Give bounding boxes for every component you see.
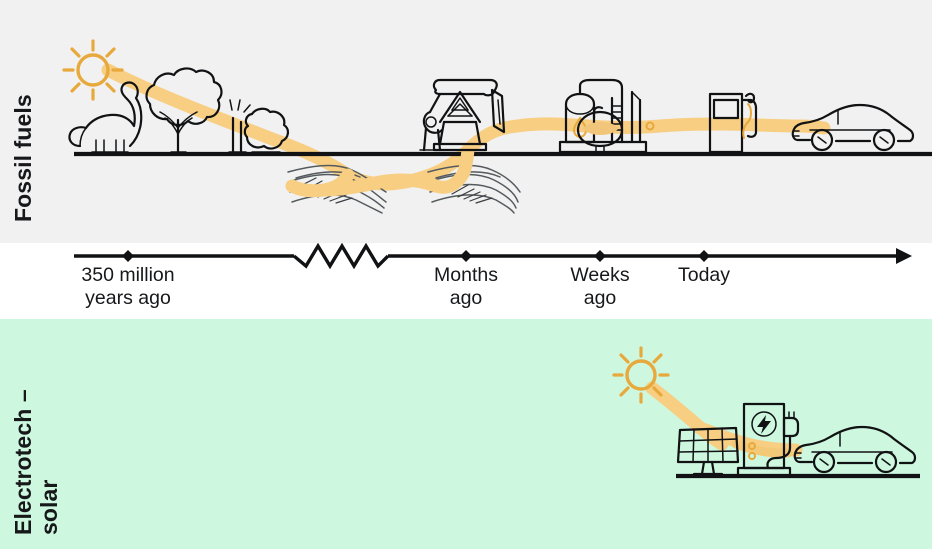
timeline-marker-350-million[interactable] bbox=[122, 250, 134, 262]
car-icon-electric bbox=[795, 427, 915, 472]
sun-icon bbox=[64, 41, 122, 99]
illustration-layer bbox=[0, 0, 932, 549]
timeline-marker-months-ago[interactable] bbox=[460, 250, 472, 262]
infographic-canvas: Fossil fuels Electrotech – solar bbox=[0, 0, 932, 549]
timeline-marker-today[interactable] bbox=[698, 250, 710, 262]
solar-energy-flow bbox=[652, 388, 796, 453]
sun-icon-solar bbox=[614, 348, 668, 402]
refinery-icon bbox=[560, 80, 654, 152]
timeline-axis bbox=[74, 246, 912, 266]
dinosaur-icon bbox=[69, 83, 141, 152]
timeline-marker-weeks-ago[interactable] bbox=[594, 250, 606, 262]
